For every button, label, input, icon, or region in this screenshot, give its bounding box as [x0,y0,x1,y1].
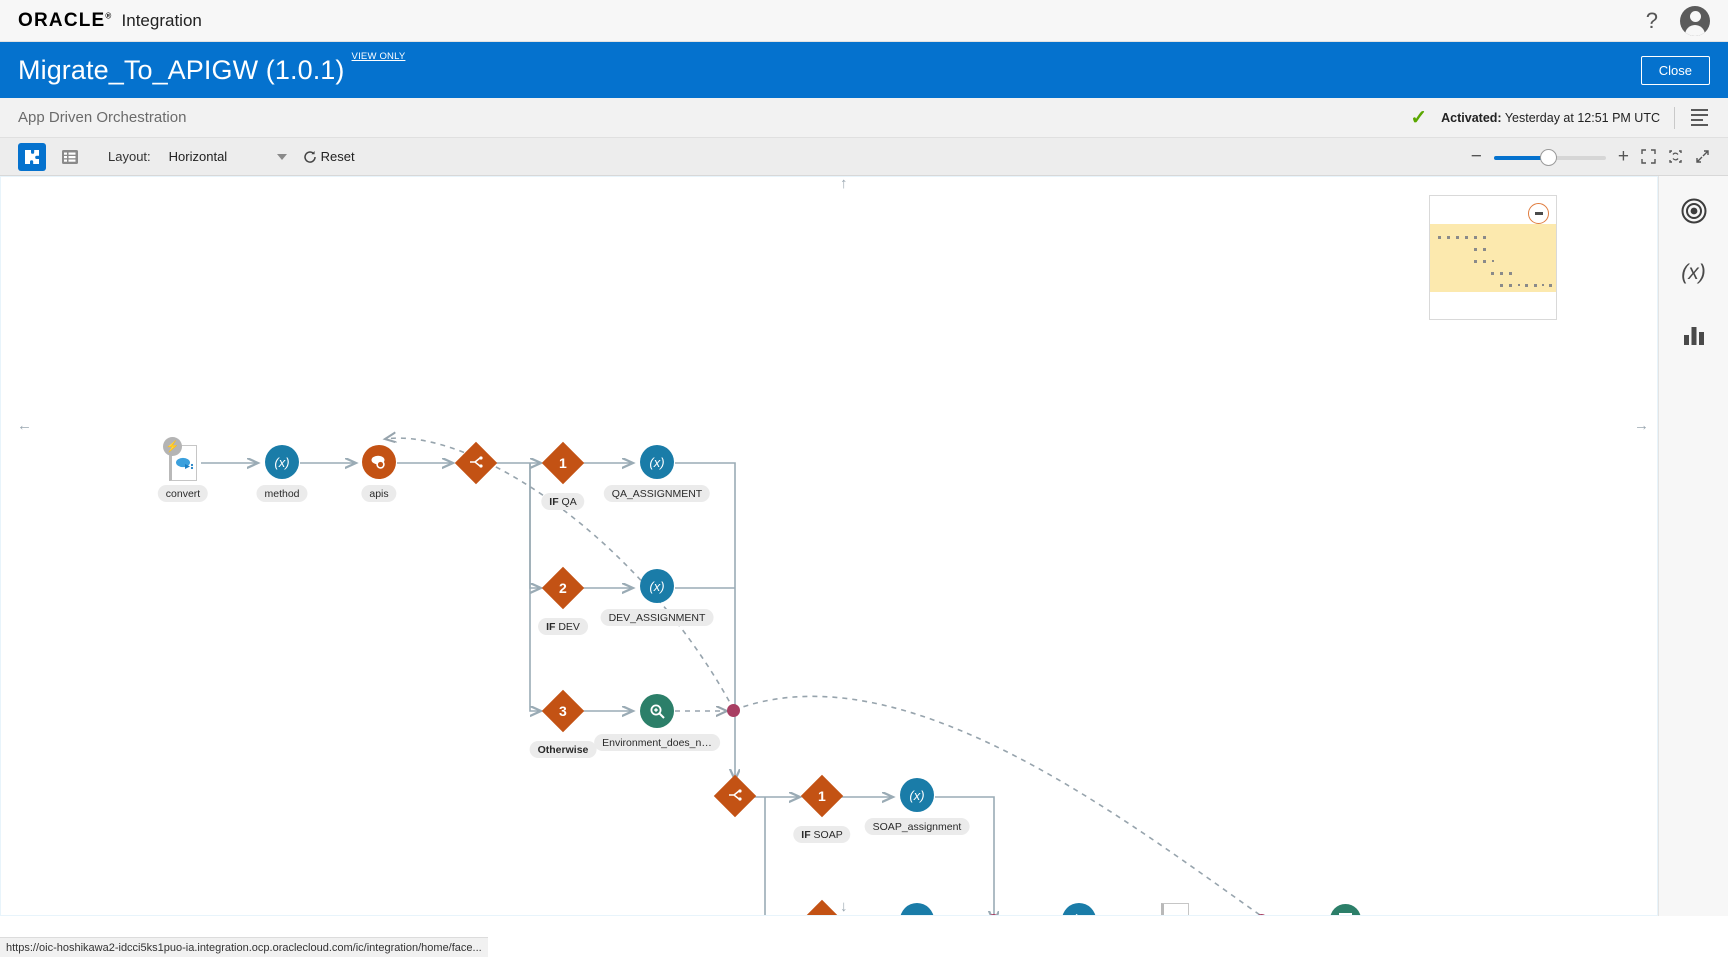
fit-to-screen-icon[interactable] [1641,149,1656,164]
layout-select[interactable]: Horizontal [169,145,287,169]
assign-icon[interactable]: (x) [640,569,674,603]
expand-diagonal-icon[interactable] [1695,149,1710,164]
reset-label: Reset [321,149,355,164]
puzzle-diagram-icon[interactable] [18,143,46,171]
node-label: IF QA [541,493,584,510]
node-merge-2[interactable] [987,914,1000,916]
status-badge: Activated: Yesterday at 12:51 PM UTC [1441,111,1660,125]
node-convert[interactable]: ⚡ convert [169,445,197,481]
status-bar-url: https://oic-hoshikawa2-idcci5ks1puo-ia.i… [0,937,488,957]
node-switch-environment[interactable] [461,448,491,478]
sub-header: App Driven Orchestration ✓ Activated: Ye… [0,98,1728,138]
refresh-icon [303,150,317,164]
integration-title-bar: Migrate_To_APIGW (1.0.1) VIEW ONLY Close [0,42,1728,98]
node-branch-otherwise-1[interactable]: 3 Otherwise [548,696,578,726]
node-environment-fault[interactable]: Environment_does_n… [640,694,674,728]
map-icon[interactable] [1062,903,1096,916]
list-view-icon[interactable] [56,143,84,171]
layout-selected-value: Horizontal [169,149,228,164]
global-header: ORACLE® Integration ? [0,0,1728,42]
node-method-assignment[interactable]: (x) METHOD_ASSIGNM… [900,903,934,916]
list-menu-icon[interactable] [1689,107,1710,128]
minus-icon [1535,212,1543,215]
document-icon[interactable] [1161,903,1189,916]
diagram-toolbar: Layout: Horizontal Reset − + [0,138,1728,176]
user-avatar-icon[interactable] [1680,6,1710,36]
page-title: Migrate_To_APIGW (1.0.1) [18,55,345,86]
zoom-slider[interactable] [1494,149,1606,165]
node-apis[interactable]: apis [362,445,396,479]
scope-icon[interactable] [1675,192,1713,230]
node-label: IF SOAP [793,826,850,843]
view-only-badge: VIEW ONLY [352,51,406,62]
merge-dot-icon[interactable] [727,704,740,717]
stop-icon[interactable] [1330,904,1361,916]
assign-icon[interactable]: (x) [900,903,934,916]
node-label: method [256,485,307,502]
cloud-icon [1167,914,1186,917]
bolt-icon: ⚡ [163,437,182,456]
slider-fill [1494,156,1547,160]
branch-number-icon[interactable]: 1 [801,775,843,817]
oracle-logo: ORACLE® [18,10,113,32]
orchestration-style-label: App Driven Orchestration [18,109,186,126]
cloud-icon [175,456,194,471]
branch-icon[interactable] [455,442,497,484]
slider-knob[interactable] [1540,149,1557,166]
node-branch-if-soap[interactable]: 1 IF SOAP [807,781,837,811]
node-label: Environment_does_n… [594,734,720,751]
branch-icon[interactable] [714,775,756,817]
minimap-viewport [1430,224,1556,292]
layout-label: Layout: [108,149,151,164]
minimap[interactable] [1429,195,1557,320]
close-button[interactable]: Close [1641,56,1710,85]
assign-icon[interactable]: (x) [640,445,674,479]
activation-status: ✓ Activated: Yesterday at 12:51 PM UTC [1410,107,1710,129]
node-label: apis [361,485,396,502]
node-map-to-deployment[interactable]: Map to deployment [1062,903,1096,916]
right-rail: (x) [1658,176,1728,916]
chevron-down-icon [277,154,287,160]
recenter-icon[interactable] [1668,149,1683,164]
node-branch-otherwise-2[interactable]: 2 Otherwise [807,906,837,916]
node-switch-method[interactable] [720,781,750,811]
node-method[interactable]: (x) method [265,445,299,479]
merge-dot-icon[interactable] [987,914,1000,916]
document-icon[interactable]: ⚡ [169,445,197,481]
variables-icon[interactable]: (x) [1675,254,1713,292]
flow-canvas[interactable]: ↑ ↓ ← → [0,176,1658,916]
node-label: DEV_ASSIGNMENT [601,609,714,626]
node-label: IF DEV [538,618,588,635]
merge-dot-icon[interactable] [1255,914,1268,916]
header-actions: ? [1646,6,1710,36]
node-deployment[interactable]: deployment [1161,903,1189,916]
node-merge-3[interactable] [1255,914,1268,916]
check-mark-icon: ✓ [1410,108,1427,128]
zoom-out-icon[interactable]: − [1471,147,1482,166]
divider [1674,107,1675,129]
node-label: convert [158,485,208,502]
node-merge-1[interactable] [727,704,740,717]
node-label: SOAP_assignment [865,818,970,835]
zoom-in-icon[interactable]: + [1618,147,1629,166]
reset-button[interactable]: Reset [303,149,355,164]
branch-number-icon[interactable]: 2 [542,567,584,609]
node-branch-if-dev[interactable]: 2 IF DEV [548,573,578,603]
assign-icon[interactable]: (x) [265,445,299,479]
node-qa-assignment[interactable]: (x) QA_ASSIGNMENT [640,445,674,479]
canvas-area: ↑ ↓ ← → [0,176,1728,916]
metrics-icon[interactable] [1675,316,1713,354]
node-soap-assignment[interactable]: (x) SOAP_assignment [900,778,934,812]
assign-icon[interactable]: (x) [900,778,934,812]
node-end[interactable] [1330,904,1361,916]
product-name: Integration [122,11,202,31]
branch-number-icon[interactable]: 3 [542,690,584,732]
invoke-cloud-icon[interactable] [362,445,396,479]
fault-icon[interactable] [640,694,674,728]
node-label: QA_ASSIGNMENT [604,485,710,502]
help-icon[interactable]: ? [1646,10,1658,32]
minimap-collapse-button[interactable] [1528,203,1549,224]
zoom-controls: − + [1471,147,1710,166]
branch-number-icon[interactable]: 1 [542,442,584,484]
node-label: Otherwise [530,741,597,758]
node-dev-assignment[interactable]: (x) DEV_ASSIGNMENT [640,569,674,603]
node-branch-if-qa[interactable]: 1 IF QA [548,448,578,478]
